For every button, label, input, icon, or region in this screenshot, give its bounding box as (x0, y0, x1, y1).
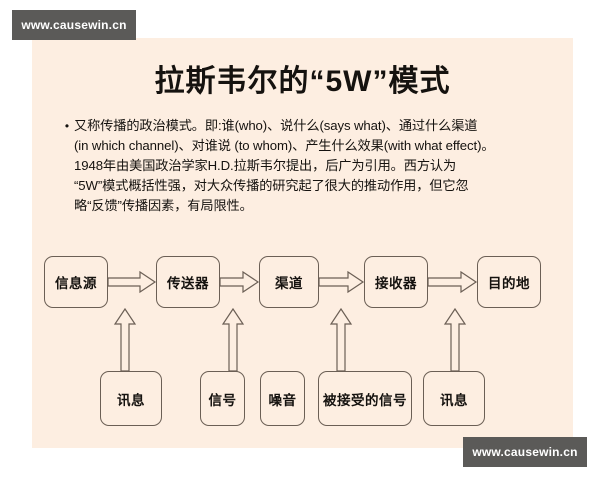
diagram-node-bottom-0: 讯息 (100, 371, 162, 426)
diagram-arrow-horizontal-2 (319, 271, 364, 293)
diagram-arrow-vertical-3 (444, 308, 466, 371)
diagram-arrow-vertical-1 (222, 308, 244, 371)
diagram-arrow-vertical-2 (330, 308, 352, 371)
diagram-node-top-1: 传送器 (156, 256, 220, 308)
diagram-node-top-0: 信息源 (44, 256, 108, 308)
slide-canvas: 拉斯韦尔的“5W”模式 • 又称传播的政治模式。即:谁(who)、说什么(say… (32, 38, 573, 448)
diagram-arrow-vertical-0 (114, 308, 136, 371)
watermark-top-text: www.causewin.cn (21, 18, 126, 32)
diagram-node-bottom-1: 信号 (200, 371, 245, 426)
diagram-arrow-horizontal-0 (108, 271, 156, 293)
diagram-node-bottom-2: 噪音 (260, 371, 305, 426)
diagram-arrow-horizontal-1 (220, 271, 259, 293)
communication-model-diagram: 信息源传送器渠道接收器目的地讯息信号噪音被接受的信号讯息 (32, 38, 573, 448)
watermark-bottom-text: www.causewin.cn (472, 445, 577, 459)
diagram-node-bottom-3: 被接受的信号 (318, 371, 412, 426)
diagram-arrow-horizontal-3 (428, 271, 477, 293)
watermark-top: www.causewin.cn (12, 10, 136, 40)
diagram-node-top-4: 目的地 (477, 256, 541, 308)
diagram-node-bottom-4: 讯息 (423, 371, 485, 426)
watermark-bottom: www.causewin.cn (463, 437, 587, 467)
diagram-node-top-2: 渠道 (259, 256, 319, 308)
diagram-node-top-3: 接收器 (364, 256, 428, 308)
